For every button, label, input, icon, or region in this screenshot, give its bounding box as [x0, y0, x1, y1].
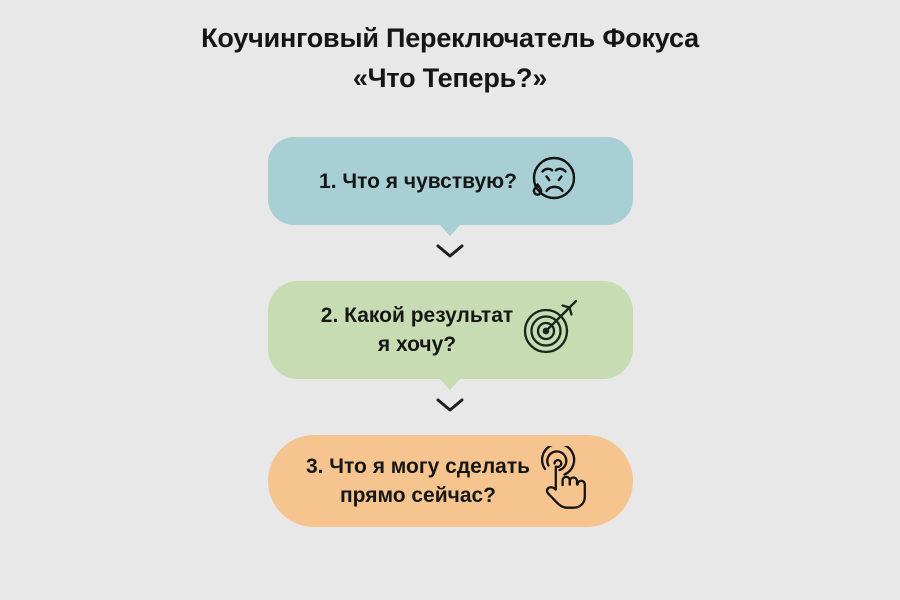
title-line-primary: Коучинговый Переключатель Фокуса [0, 18, 900, 58]
title-line-secondary: «Что Теперь?» [0, 58, 900, 98]
flow-step-label-2: 2. Какой результат я хочу? [321, 301, 513, 359]
chevron-down-icon [435, 396, 465, 419]
infographic-canvas: Коучинговый Переключатель Фокуса «Что Те… [0, 0, 900, 600]
crying-face-icon [525, 151, 581, 212]
flow-step-card-2[interactable]: 2. Какой результат я хочу? [268, 281, 633, 379]
flow-step-card-3[interactable]: 3. Что я могу сделать прямо сейчас? [268, 435, 633, 527]
flow-step-card-1[interactable]: 1. Что я чувствую? [268, 137, 633, 225]
flow-step-label-1: 1. Что я чувствую? [319, 167, 517, 196]
chevron-down-icon [435, 242, 465, 265]
page-title: Коучинговый Переключатель Фокуса «Что Те… [0, 18, 900, 98]
card-tail-1 [439, 224, 461, 236]
target-arrow-icon [519, 298, 579, 363]
flow-column: 1. Что я чувствую? [0, 137, 900, 527]
hand-tap-icon [534, 446, 594, 517]
flow-step-label-3: 3. Что я могу сделать прямо сейчас? [306, 452, 530, 510]
card-tail-2 [439, 378, 461, 390]
